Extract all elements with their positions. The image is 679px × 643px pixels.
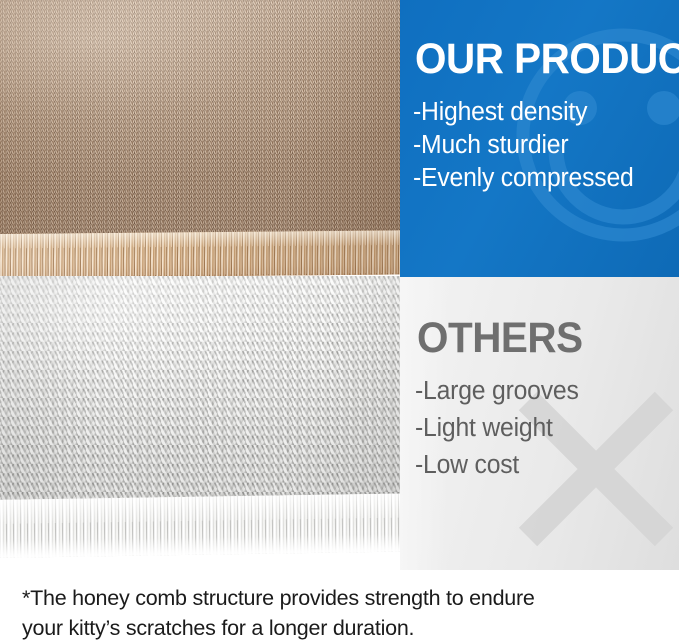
others-board-edge — [0, 493, 417, 558]
others-drawback-item: -Light weight — [415, 410, 673, 447]
others-mesh-board-image — [0, 276, 416, 508]
others-drawback-item: -Large grooves — [415, 373, 673, 410]
our-product-edge-highlight — [0, 230, 404, 278]
product-photo-area: OUR PRODUCT -Highest density -Much sturd… — [0, 0, 679, 570]
others-drawback-list: -Large grooves -Light weight -Low cost — [415, 373, 679, 484]
others-panel: OTHERS -Large grooves -Light weight -Low… — [400, 277, 679, 570]
our-product-heading: OUR PRODUCT — [415, 38, 679, 81]
others-lighting-overlay — [0, 276, 416, 508]
our-product-benefit-item: -Much sturdier — [413, 129, 671, 162]
others-drawback-item: -Low cost — [415, 447, 673, 484]
our-product-panel: OUR PRODUCT -Highest density -Much sturd… — [400, 0, 679, 277]
others-heading: OTHERS — [417, 317, 583, 360]
our-product-benefit-list: -Highest density -Much sturdier -Evenly … — [413, 96, 679, 195]
others-edge-highlight — [0, 493, 417, 558]
our-product-lighting-overlay — [0, 0, 406, 240]
product-comparison-infographic: OUR PRODUCT -Highest density -Much sturd… — [0, 0, 679, 643]
our-product-honeycomb-board-image — [0, 0, 406, 240]
footnote-line-2: your kitty’s scratches for a longer dura… — [22, 618, 414, 640]
our-product-board-edge — [0, 230, 404, 278]
footnote-caption: *The honey comb structure provides stren… — [0, 570, 679, 643]
our-product-benefit-item: -Evenly compressed — [413, 162, 671, 195]
footnote-line-1: *The honey comb structure provides stren… — [22, 588, 535, 610]
our-product-benefit-item: -Highest density — [413, 96, 671, 129]
